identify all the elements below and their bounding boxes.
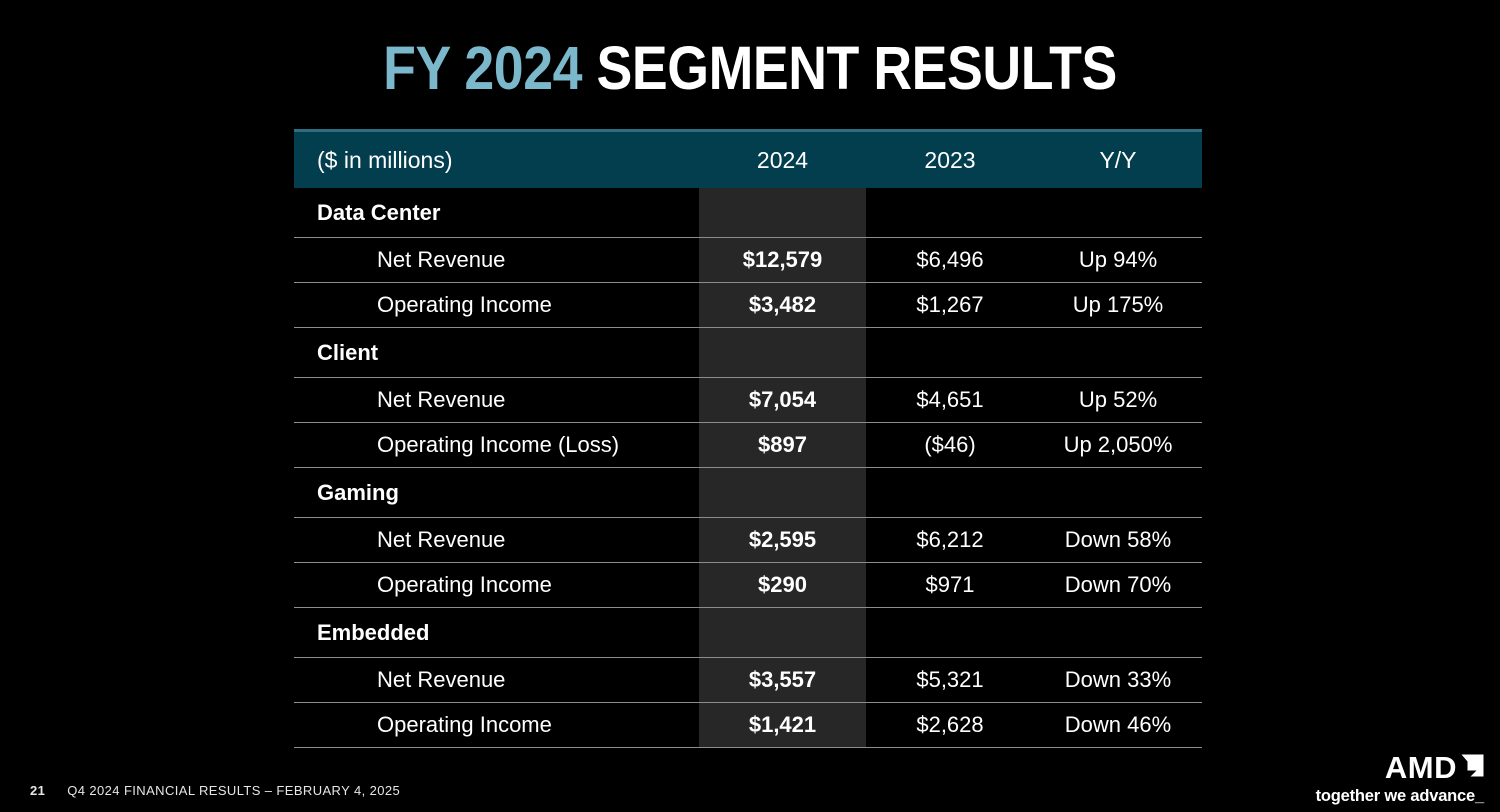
section-label: Data Center xyxy=(294,188,699,238)
row-value-yoy: Up 2,050% xyxy=(1034,423,1202,468)
row-label: Operating Income xyxy=(294,563,699,608)
page-number: 21 xyxy=(30,783,45,798)
table-row: Net Revenue $3,557 $5,321 Down 33% xyxy=(294,658,1202,703)
row-label: Operating Income (Loss) xyxy=(294,423,699,468)
section-cell-2023 xyxy=(866,188,1034,238)
section-cell-2024 xyxy=(699,608,866,658)
row-value-2024: $1,421 xyxy=(699,703,866,748)
table-row: Net Revenue $12,579 $6,496 Up 94% xyxy=(294,238,1202,283)
section-cell-2023 xyxy=(866,608,1034,658)
column-header-2023: 2023 xyxy=(866,131,1034,189)
table-row: Operating Income $3,482 $1,267 Up 175% xyxy=(294,283,1202,328)
amd-logo: AMD together we advance_ xyxy=(1316,752,1484,805)
table-header-row: ($ in millions) 2024 2023 Y/Y xyxy=(294,131,1202,189)
section-label: Client xyxy=(294,328,699,378)
row-label: Net Revenue xyxy=(294,378,699,423)
row-value-2024: $12,579 xyxy=(699,238,866,283)
row-value-2023: ($46) xyxy=(866,423,1034,468)
row-value-yoy: Up 94% xyxy=(1034,238,1202,283)
row-value-yoy: Up 52% xyxy=(1034,378,1202,423)
table-section-row: Gaming xyxy=(294,468,1202,518)
table-row: Net Revenue $7,054 $4,651 Up 52% xyxy=(294,378,1202,423)
row-value-2024: $897 xyxy=(699,423,866,468)
row-value-2023: $6,496 xyxy=(866,238,1034,283)
row-value-2023: $971 xyxy=(866,563,1034,608)
page-title-main: SEGMENT RESULTS xyxy=(597,34,1117,102)
table-section-row: Embedded xyxy=(294,608,1202,658)
row-value-yoy: Down 58% xyxy=(1034,518,1202,563)
row-label: Net Revenue xyxy=(294,238,699,283)
section-cell-2023 xyxy=(866,468,1034,518)
row-value-2023: $4,651 xyxy=(866,378,1034,423)
section-cell-2024 xyxy=(699,188,866,238)
section-cell-2023 xyxy=(866,328,1034,378)
section-cell-yoy xyxy=(1034,188,1202,238)
column-header-units: ($ in millions) xyxy=(294,131,699,189)
row-value-2023: $5,321 xyxy=(866,658,1034,703)
table-section-row: Client xyxy=(294,328,1202,378)
row-value-2023: $1,267 xyxy=(866,283,1034,328)
footer-deck-label: Q4 2024 FINANCIAL RESULTS – FEBRUARY 4, … xyxy=(67,783,400,798)
section-cell-yoy xyxy=(1034,608,1202,658)
row-value-yoy: Up 175% xyxy=(1034,283,1202,328)
page-title: FY 2024 SEGMENT RESULTS xyxy=(90,36,1410,100)
table-row: Operating Income $290 $971 Down 70% xyxy=(294,563,1202,608)
row-value-2024: $290 xyxy=(699,563,866,608)
row-value-2023: $6,212 xyxy=(866,518,1034,563)
row-value-yoy: Down 33% xyxy=(1034,658,1202,703)
amd-tagline: together we advance_ xyxy=(1316,788,1484,805)
row-label: Operating Income xyxy=(294,283,699,328)
slide-footer: 21 Q4 2024 FINANCIAL RESULTS – FEBRUARY … xyxy=(30,783,400,798)
section-label: Embedded xyxy=(294,608,699,658)
amd-arrow-icon xyxy=(1461,754,1484,781)
amd-wordmark-text: AMD xyxy=(1385,752,1457,783)
row-value-2024: $2,595 xyxy=(699,518,866,563)
table-body: Data Center Net Revenue $12,579 $6,496 U… xyxy=(294,188,1202,748)
column-header-yoy: Y/Y xyxy=(1034,131,1202,189)
row-label: Net Revenue xyxy=(294,658,699,703)
segment-results-table: ($ in millions) 2024 2023 Y/Y Data Cente… xyxy=(294,129,1202,748)
row-value-2024: $7,054 xyxy=(699,378,866,423)
row-label: Net Revenue xyxy=(294,518,699,563)
row-value-2024: $3,557 xyxy=(699,658,866,703)
column-header-2024: 2024 xyxy=(699,131,866,189)
table-row: Net Revenue $2,595 $6,212 Down 58% xyxy=(294,518,1202,563)
row-value-2024: $3,482 xyxy=(699,283,866,328)
row-value-yoy: Down 46% xyxy=(1034,703,1202,748)
table-row: Operating Income $1,421 $2,628 Down 46% xyxy=(294,703,1202,748)
page-title-accent: FY 2024 xyxy=(383,34,582,102)
table-row: Operating Income (Loss) $897 ($46) Up 2,… xyxy=(294,423,1202,468)
row-value-2023: $2,628 xyxy=(866,703,1034,748)
row-label: Operating Income xyxy=(294,703,699,748)
section-cell-yoy xyxy=(1034,328,1202,378)
section-label: Gaming xyxy=(294,468,699,518)
row-value-yoy: Down 70% xyxy=(1034,563,1202,608)
section-cell-2024 xyxy=(699,328,866,378)
section-cell-yoy xyxy=(1034,468,1202,518)
table-section-row: Data Center xyxy=(294,188,1202,238)
section-cell-2024 xyxy=(699,468,866,518)
